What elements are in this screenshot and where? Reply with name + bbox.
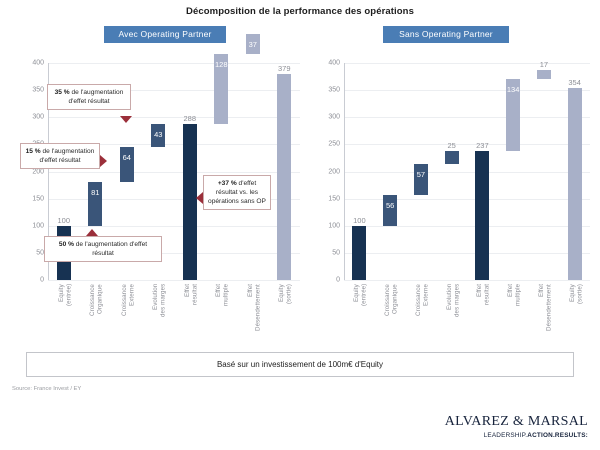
y-axis-tick: 100 [314, 222, 340, 229]
callout-15-percent: 15 % de l'augmentation d'effet résultat [20, 143, 100, 169]
y-axis-tick: 100 [18, 222, 44, 229]
bar [475, 151, 489, 280]
y-axis-tick: 0 [314, 277, 340, 284]
y-axis-tick: 300 [18, 114, 44, 121]
bar-value-label: 379 [262, 64, 306, 73]
x-axis-category-label: Croissance Organique [89, 284, 104, 336]
bar [383, 195, 397, 225]
bar-value-label: 56 [368, 201, 412, 210]
y-axis-line [344, 63, 345, 280]
bar-value-label: 354 [553, 78, 597, 87]
callout-15-text: de l'augmentation d'effet résultat [39, 148, 94, 164]
tab-avec-operating-partner[interactable]: Avec Operating Partner [104, 26, 226, 43]
bar [537, 70, 551, 79]
x-axis-category-label: Effet résultat [184, 284, 199, 336]
gridline [48, 172, 300, 173]
bar-value-label: 43 [136, 130, 180, 139]
callout-37-arrow-icon [196, 192, 203, 204]
callout-50-arrow-icon [86, 229, 98, 236]
y-axis-tick: 200 [314, 168, 340, 175]
bar-value-label: 134 [491, 85, 535, 94]
y-axis-tick: 400 [314, 60, 340, 67]
gridline [48, 226, 300, 227]
callout-35-text: de l'augmentation d'effet résultat [68, 89, 123, 105]
callout-35-percent: 35 % de l'augmentation d'effet résultat [47, 84, 131, 110]
gridline [344, 117, 590, 118]
gridline [48, 280, 300, 281]
y-axis-tick: 250 [314, 141, 340, 148]
y-axis-tick: 400 [18, 60, 44, 67]
bar-value-label: 64 [105, 153, 149, 162]
x-axis-category-label: Equity (sortie) [569, 284, 584, 336]
x-axis-category-label: Croissance Externe [415, 284, 430, 336]
bar-value-label: 81 [73, 188, 117, 197]
gridline [344, 253, 590, 254]
gridline [344, 280, 590, 281]
gridline [344, 172, 590, 173]
callout-50-pct: 50 % [59, 241, 74, 248]
chart-sans-operating-partner: 050100150200250300350400100Equity (entré… [310, 55, 594, 340]
bar [568, 88, 582, 280]
y-axis-tick: 150 [18, 195, 44, 202]
x-axis-category-label: Effet résultat [476, 284, 491, 336]
footnote-box: Basé sur un investissement de 100m€ d'Eq… [26, 352, 574, 377]
callout-35-arrow-icon [120, 116, 132, 123]
y-axis-tick: 50 [18, 249, 44, 256]
x-axis-category-label: Equity (entrée) [353, 284, 368, 336]
x-axis-category-label: Effet Désendettement [247, 284, 262, 336]
y-axis-tick: 150 [314, 195, 340, 202]
logo-wordmark: ALVAREZ & MARSAL [445, 414, 588, 430]
callout-50-percent: 50 % de l'augmentation d'effet résultat [44, 236, 162, 262]
callout-37-percent: +37 % d'effet résultat vs. les opération… [203, 175, 271, 210]
x-axis-category-label: Evolution des marges [152, 284, 167, 336]
logo-tagline-lead: LEADERSHIP. [484, 432, 528, 439]
callout-37-pct: +37 % [218, 180, 237, 187]
y-axis-tick: 350 [18, 87, 44, 94]
logo-tagline: LEADERSHIP.ACTION.RESULTS: [445, 432, 588, 439]
x-axis-category-label: Croissance Organique [384, 284, 399, 336]
alvarez-marsal-logo: ALVAREZ & MARSAL LEADERSHIP.ACTION.RESUL… [445, 414, 588, 439]
callout-15-arrow-icon [100, 155, 107, 167]
gridline [344, 199, 590, 200]
y-axis-tick: 300 [314, 114, 340, 121]
page-title: Décomposition de la performance des opér… [0, 6, 600, 17]
logo-tagline-bold: ACTION.RESULTS: [527, 432, 588, 439]
tab-sans-operating-partner[interactable]: Sans Operating Partner [383, 26, 509, 43]
x-axis-category-label: Equity (sortie) [278, 284, 293, 336]
x-axis-category-label: Evolution des marges [446, 284, 461, 336]
bar [277, 74, 291, 280]
x-axis-category-label: Equity (entrée) [58, 284, 73, 336]
x-axis-category-label: Effet multiple [507, 284, 522, 336]
bar-value-label: 128 [199, 60, 243, 69]
y-axis-tick: 0 [18, 277, 44, 284]
y-axis-tick: 50 [314, 249, 340, 256]
callout-35-pct: 35 % [55, 89, 70, 96]
x-axis-category-label: Effet Désendettement [538, 284, 553, 336]
bar-value-label: 100 [337, 216, 381, 225]
x-axis-category-label: Croissance Externe [121, 284, 136, 336]
callout-15-pct: 15 % [26, 148, 41, 155]
gridline [344, 226, 590, 227]
callout-37-text: d'effet résultat vs. les opérations sans… [208, 180, 266, 205]
x-axis-category-label: Effet multiple [215, 284, 230, 336]
bar [445, 151, 459, 165]
slide-root: Décomposition de la performance des opér… [0, 0, 600, 450]
bar-value-label: 57 [399, 170, 443, 179]
y-axis-tick: 350 [314, 87, 340, 94]
bar-value-label: 288 [168, 114, 212, 123]
bar-value-label: 237 [460, 141, 504, 150]
footnote-text: Basé sur un investissement de 100m€ d'Eq… [217, 360, 383, 369]
bar [183, 124, 197, 280]
bar [352, 226, 366, 280]
source-text: Source: France Invest / EY [12, 386, 81, 392]
callout-50-text: de l'augmentation d'effet résultat [74, 241, 147, 257]
bar-value-label: 37 [231, 40, 275, 49]
bar [414, 164, 428, 195]
gridline [344, 90, 590, 91]
y-axis-tick: 200 [18, 168, 44, 175]
bar-value-label: 100 [42, 216, 86, 225]
bar-value-label: 17 [522, 60, 566, 69]
